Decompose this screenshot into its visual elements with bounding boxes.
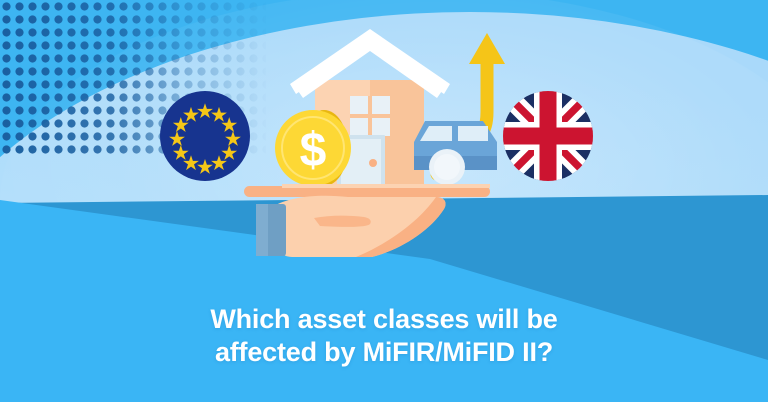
banner-headline: Which asset classes will be affected by … [0,303,768,369]
marketing-banner: $ Which asset classes will be affected b… [0,0,768,402]
headline-line-2: affected by MiFIR/MiFID II? [0,336,768,369]
headline-line-1: Which asset classes will be [0,303,768,336]
halftone-dot-pattern [0,0,266,156]
